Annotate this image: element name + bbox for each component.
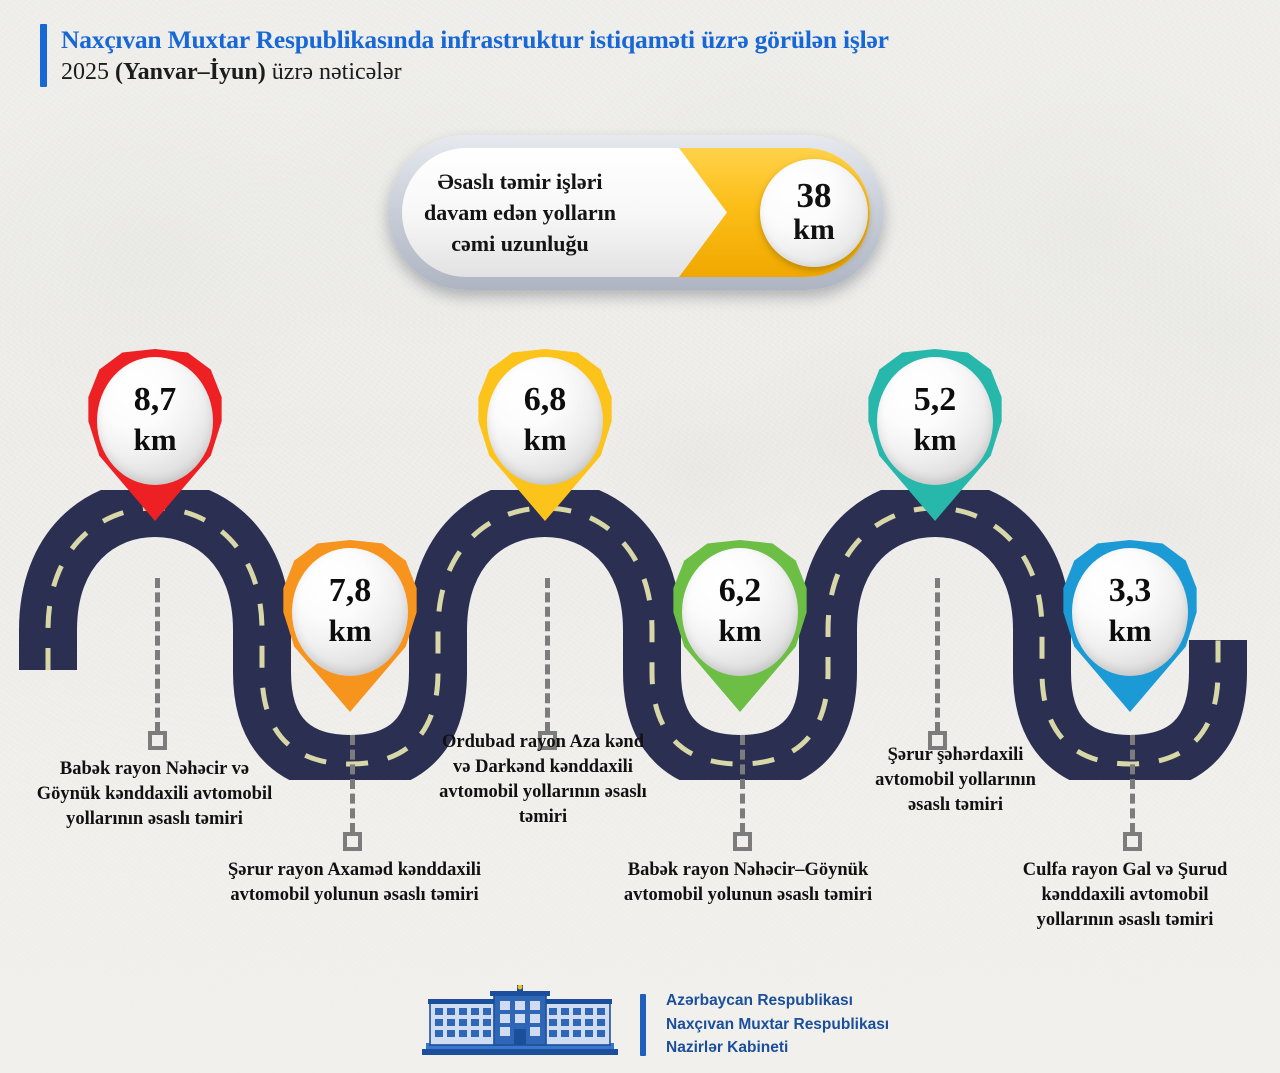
map-pin-2-value: 7,8 [329,574,372,608]
page-subtitle: 2025 (Yanvar–İyun) üzrə nəticələr [61,57,889,87]
marker-label-3: Ordubad rayon Aza kənd və Darkənd kəndda… [432,730,654,830]
page-header: Naxçıvan Muxtar Respublikasında infrastr… [40,24,889,87]
map-pin-3-badge: 6,8 km [487,357,603,485]
map-pin-6[interactable]: 3,3 km [1062,540,1198,712]
subtitle-period: (Yanvar–İyun) [115,59,266,85]
connector-3-line [545,578,550,732]
map-pin-3-value: 6,8 [524,383,567,417]
connector-5-line [935,578,940,732]
connector-5 [928,578,947,750]
map-pin-5-unit: km [913,421,956,460]
map-pin-4[interactable]: 6,2 km [672,540,808,712]
connector-6-node [1123,832,1142,851]
marker-label-4: Babək rayon Nəhəcir–Göynük avtomobil yol… [608,858,888,908]
map-pin-2-badge: 7,8 km [292,548,408,676]
connector-4 [733,735,752,851]
map-pin-3-shape: 6,8 km [477,349,613,521]
map-pin-3-unit: km [523,421,566,460]
banner-unit: km [793,214,835,246]
map-pin-6-shape: 3,3 km [1062,540,1198,712]
banner-label: Əsaslı təmir işləri davam edən yolların … [410,135,630,290]
map-pin-2-unit: km [328,612,371,651]
map-pin-1-shape: 8,7 km [87,349,223,521]
map-pin-1-badge: 8,7 km [97,357,213,485]
footer-line-2: Naxçıvan Muxtar Respublikası [666,1013,889,1037]
map-pin-5[interactable]: 5,2 km [867,349,1003,521]
marker-label-6: Culfa rayon Gal və Şurud kənddaxili avto… [1010,858,1240,933]
footer-line-1: Azərbaycan Respublikası [666,989,889,1013]
map-pin-4-badge: 6,2 km [682,548,798,676]
map-pin-4-shape: 6,2 km [672,540,808,712]
connector-3 [538,578,557,750]
map-pin-5-value: 5,2 [914,383,957,417]
map-pin-4-unit: km [718,612,761,651]
total-length-banner: Əsaslı təmir işləri davam edən yolların … [388,135,884,290]
marker-label-1: Babək rayon Nəhəcir və Göynük kənddaxili… [32,757,277,832]
subtitle-tail: üzrə nəticələr [272,59,402,85]
map-pin-5-badge: 5,2 km [877,357,993,485]
cabinet-building-icon [420,985,620,1059]
connector-6 [1123,735,1142,851]
connector-4-node [733,832,752,851]
map-pin-6-value: 3,3 [1109,574,1152,608]
connector-2-line [350,735,355,833]
map-pin-2[interactable]: 7,8 km [282,540,418,712]
connector-4-line [740,735,745,833]
map-pin-5-shape: 5,2 km [867,349,1003,521]
header-text-block: Naxçıvan Muxtar Respublikasında infrastr… [61,24,889,87]
connector-2-node [343,832,362,851]
connector-1-node [148,731,167,750]
banner-value: 38 [797,178,832,214]
map-pin-6-unit: km [1108,612,1151,651]
connector-2 [343,735,362,851]
banner-value-badge: 38 km [760,159,868,267]
map-pin-1[interactable]: 8,7 km [87,349,223,521]
road-asphalt [48,508,1218,764]
cabinet-building-logo [420,985,620,1064]
map-pin-1-value: 8,7 [134,383,177,417]
map-pin-2-shape: 7,8 km [282,540,418,712]
map-pin-4-value: 6,2 [719,574,762,608]
map-pin-6-badge: 3,3 km [1072,548,1188,676]
footer-line-3: Nazirlər Kabineti [666,1036,889,1060]
connector-1-line [155,578,160,732]
connector-1 [148,578,167,750]
marker-label-2: Şərur rayon Axaməd kənddaxili avtomobil … [222,858,487,908]
connector-6-line [1130,735,1135,833]
header-accent-bar [40,24,47,87]
subtitle-year: 2025 [61,59,109,85]
map-pin-1-unit: km [133,421,176,460]
map-pin-3[interactable]: 6,8 km [477,349,613,521]
footer-organisation-text: Azərbaycan Respublikası Naxçıvan Muxtar … [666,989,889,1060]
footer-divider [640,994,646,1056]
marker-label-5: Şərur şəhərdaxili avtomobil yollarının ə… [858,743,1053,818]
footer: Azərbaycan Respublikası Naxçıvan Muxtar … [420,985,889,1064]
page-title: Naxçıvan Muxtar Respublikasında infrastr… [61,25,889,55]
